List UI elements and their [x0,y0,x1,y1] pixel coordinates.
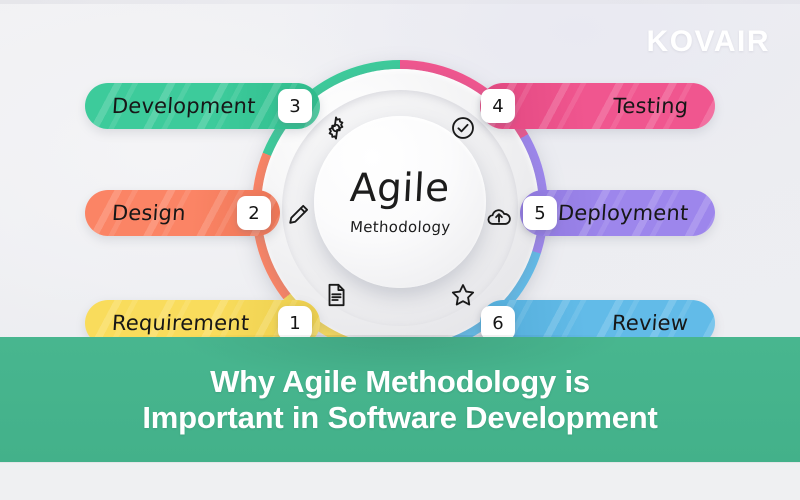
gear-icon [323,115,349,141]
step-label-requirement: Requirement [111,311,250,335]
banner-line-1: Why Agile Methodology is [210,364,590,400]
step-label-review: Review [611,311,689,335]
pen-icon [285,202,311,228]
step-badge-4[interactable]: 4 [481,89,515,123]
center-title: Agile [349,169,451,208]
document-icon [323,282,349,308]
kovair-logo: KOVAIR [647,27,770,57]
step-label-development: Development [111,94,256,118]
step-label-deployment: Deployment [557,201,689,225]
step-badge-5[interactable]: 5 [523,196,557,230]
step-badge-3[interactable]: 3 [278,89,312,123]
cloud-upload-icon [486,204,512,230]
star-icon [450,282,476,308]
center-core: Agile Methodology [314,116,486,288]
step-label-design: Design [111,201,186,225]
step-badge-2[interactable]: 2 [237,196,271,230]
background-footer-strip [0,462,800,500]
step-label-testing: Testing [612,94,689,118]
step-badge-1[interactable]: 1 [278,306,312,340]
background-top-edge [0,0,800,4]
check-circle-icon [450,115,476,141]
step-badge-6[interactable]: 6 [481,306,515,340]
title-banner: Why Agile Methodology is Important in So… [0,337,800,462]
banner-line-2: Important in Software Development [142,400,657,436]
center-subtitle: Methodology [349,218,450,236]
step-pill-testing[interactable]: Testing [480,83,715,129]
infographic-canvas: KOVAIR Agile Methodology [0,0,800,500]
